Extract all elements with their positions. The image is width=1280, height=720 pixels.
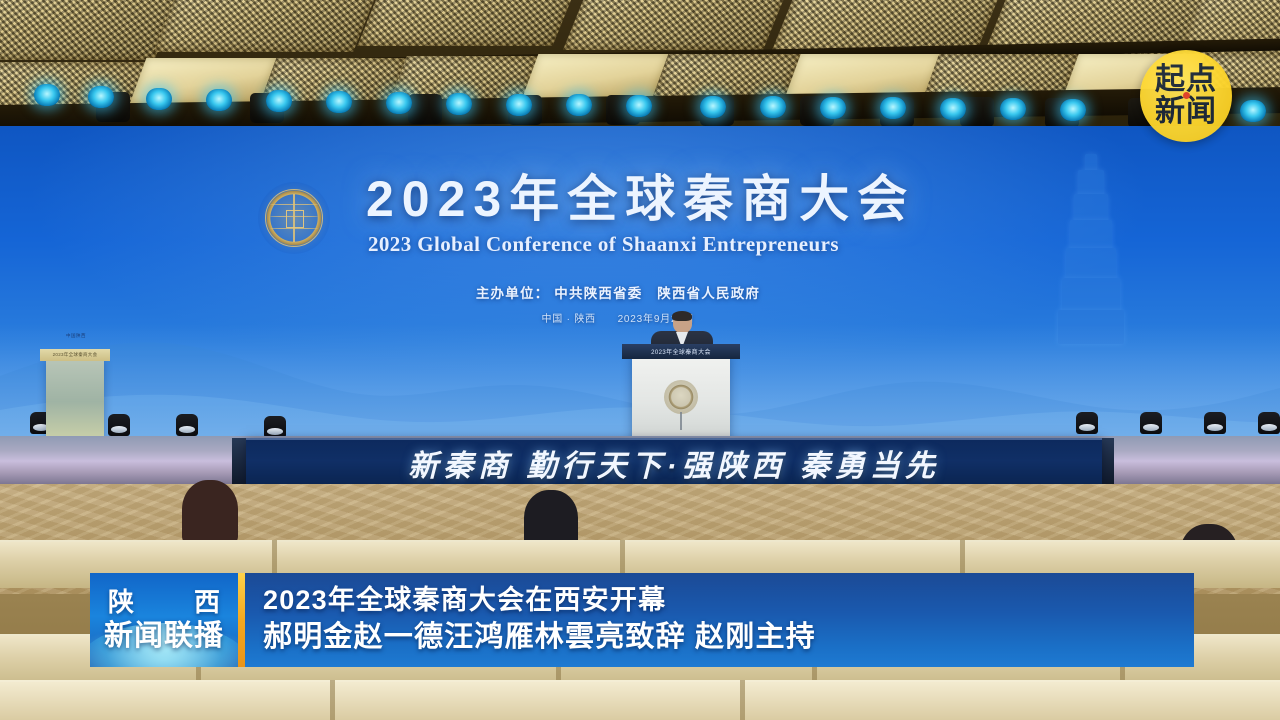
blue-stage-light bbox=[700, 96, 726, 118]
conference-title-en: 2023 Global Conference of Shaanxi Entrep… bbox=[368, 232, 839, 257]
blue-stage-light bbox=[34, 84, 60, 106]
lower-third: 陕 西 新闻联播 2023年全球秦商大会在西安开幕 郝明金赵一德汪鸿雁林雲亮致辞… bbox=[90, 573, 1194, 667]
blue-stage-light bbox=[880, 97, 906, 119]
blue-stage-light bbox=[88, 86, 114, 108]
ceiling-panel bbox=[153, 0, 383, 52]
watermark-accent-dot bbox=[1183, 92, 1190, 99]
ceiling-panel bbox=[357, 0, 581, 46]
conference-place-date-line: 中国 · 陕西 2023年9月21日 bbox=[258, 310, 978, 325]
blue-stage-light bbox=[206, 89, 232, 111]
blue-stage-light bbox=[1240, 100, 1266, 122]
broadcast-screenshot: 2023年全球秦商大会 2023 Global Conference of Sh… bbox=[0, 0, 1280, 720]
stage-light-fixture bbox=[408, 94, 442, 124]
left-podium-nameplate: 2023年全球秦商大会 bbox=[40, 349, 110, 361]
audience-person bbox=[182, 480, 238, 544]
moving-head-light bbox=[108, 414, 130, 436]
main-podium-nameplate-text: 2023年全球秦商大会 bbox=[651, 347, 711, 356]
blue-stage-light bbox=[1000, 98, 1026, 120]
blue-stage-light bbox=[506, 94, 532, 116]
channel-badge-line2: 新闻联播 bbox=[104, 619, 224, 653]
conference-host-line: 主办单位： 中共陕西省委 陕西省人民政府 bbox=[258, 282, 978, 302]
moving-head-light bbox=[1258, 412, 1280, 434]
main-podium: 2023年全球秦商大会 bbox=[632, 352, 730, 444]
qidian-news-watermark: 起点 新闻 bbox=[1140, 50, 1232, 142]
conference-emblem-icon bbox=[258, 182, 330, 254]
channel-badge: 陕 西 新闻联播 bbox=[90, 573, 238, 667]
blue-stage-light bbox=[326, 91, 352, 113]
left-podium-nameplate-text: 2023年全球秦商大会 bbox=[53, 352, 98, 358]
blue-stage-light bbox=[820, 97, 846, 119]
left-podium: 中国陕西 2023年全球秦商大会 bbox=[46, 358, 104, 438]
headline-line2: 郝明金赵一德汪鸿雁林雲亮致辞 赵刚主持 bbox=[263, 618, 1194, 657]
blue-stage-light bbox=[446, 93, 472, 115]
chair-divider bbox=[740, 680, 745, 720]
blue-stage-light bbox=[940, 98, 966, 120]
blue-stage-light bbox=[146, 88, 172, 110]
microphone-icon bbox=[680, 412, 682, 430]
stage-front-banner-text: 新秦商 勤行天下·强陕西 秦勇当先 bbox=[408, 441, 940, 485]
blue-stage-light bbox=[760, 96, 786, 118]
headline-line1: 2023年全球秦商大会在西安开幕 bbox=[263, 582, 1194, 618]
moving-head-light bbox=[1076, 412, 1098, 434]
moving-head-light bbox=[264, 416, 286, 438]
blue-stage-light bbox=[386, 92, 412, 114]
ceiling-panel bbox=[563, 0, 793, 50]
main-podium-nameplate: 2023年全球秦商大会 bbox=[622, 344, 740, 359]
podium-seal-icon bbox=[664, 380, 698, 414]
blue-stage-light bbox=[266, 90, 292, 112]
blue-stage-light bbox=[1060, 99, 1086, 121]
venue-ceiling bbox=[0, 0, 1280, 128]
watermark-line2: 新闻 bbox=[1155, 96, 1217, 128]
ceiling-panel bbox=[522, 54, 669, 100]
moving-head-light bbox=[1140, 412, 1162, 434]
conference-title-cn: 2023年全球秦商大会 bbox=[366, 168, 915, 230]
lower-third-divider bbox=[238, 573, 245, 667]
moving-head-light bbox=[176, 414, 198, 436]
channel-badge-line1: 陕 西 bbox=[91, 587, 237, 617]
stage-front-banner: 新秦商 勤行天下·强陕西 秦勇当先 bbox=[246, 438, 1102, 486]
chair-row-front bbox=[0, 680, 1280, 720]
headline-panel: 2023年全球秦商大会在西安开幕 郝明金赵一德汪鸿雁林雲亮致辞 赵刚主持 bbox=[245, 573, 1194, 667]
moving-head-light bbox=[1204, 412, 1226, 434]
left-podium-header: 中国陕西 bbox=[54, 332, 98, 339]
chair-divider bbox=[330, 680, 335, 720]
blue-stage-light bbox=[566, 94, 592, 116]
blue-stage-light bbox=[626, 95, 652, 117]
